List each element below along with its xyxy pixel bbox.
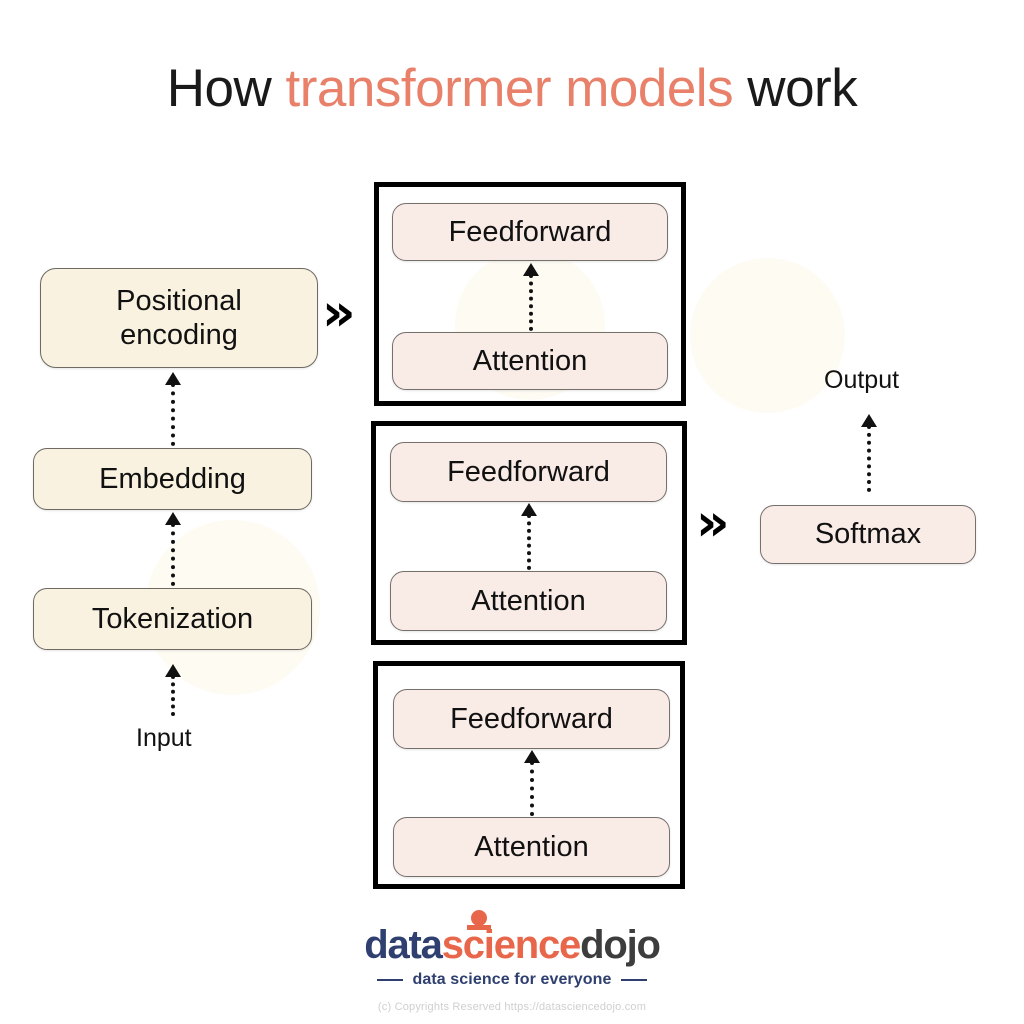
logo-wordmark: datasciencedojo — [364, 925, 659, 965]
node-embedding-label: Embedding — [99, 462, 246, 496]
block-2-attention[interactable]: Attention — [390, 571, 667, 631]
arrow-head-icon — [165, 372, 181, 385]
block-3-attention[interactable]: Attention — [393, 817, 670, 877]
tagline-text: data science for everyone — [412, 971, 611, 989]
block-2-feedforward[interactable]: Feedforward — [390, 442, 667, 502]
logo-person-head-icon — [471, 910, 487, 926]
block-3-attention-label: Attention — [474, 830, 588, 864]
title-highlight: transformer models — [286, 59, 734, 118]
logo-tagline: data science for everyone — [0, 971, 1024, 989]
input-label: Input — [136, 724, 192, 753]
block-1-feedforward-label: Feedforward — [449, 215, 612, 249]
node-tokenization[interactable]: Tokenization — [33, 588, 312, 650]
output-label: Output — [824, 366, 899, 395]
diagram-canvas: How transformer models work Positional e… — [0, 0, 1024, 1024]
block-2-feedforward-label: Feedforward — [447, 455, 610, 489]
arrow-shaft — [171, 383, 175, 446]
background-circle-watermark — [690, 258, 845, 413]
arrow-softmax-to-output — [859, 414, 879, 492]
node-softmax[interactable]: Softmax — [760, 505, 976, 564]
arrow-head-icon — [165, 512, 181, 525]
page-title: How transformer models work — [0, 58, 1024, 119]
block-1-attention[interactable]: Attention — [392, 332, 668, 390]
tagline-rule-left — [377, 979, 403, 982]
logo-part-dojo: dojo — [580, 923, 660, 967]
block-1-attention-label: Attention — [473, 344, 587, 378]
arrow-tokenization-to-embedding — [163, 512, 183, 586]
copyright-text: (c) Copyrights Reserved https://datascie… — [0, 1001, 1024, 1013]
arrow-embedding-to-positional — [163, 372, 183, 446]
arrow-head-icon — [165, 664, 181, 677]
datasciencedojo-logo[interactable]: datasciencedojo — [364, 925, 659, 965]
block-3-feedforward-label: Feedforward — [450, 702, 613, 736]
node-positional-encoding-label: Positional encoding — [116, 284, 242, 352]
block-2-attention-label: Attention — [471, 584, 585, 618]
logo-part-data: data — [364, 923, 441, 967]
block-3-feedforward[interactable]: Feedforward — [393, 689, 670, 749]
softmax-entry-chevron-icon: » — [696, 497, 730, 549]
footer: datasciencedojo data science for everyon… — [0, 925, 1024, 1013]
arrow-input-to-tokenization — [163, 664, 183, 716]
title-suffix: work — [733, 59, 857, 118]
node-positional-encoding[interactable]: Positional encoding — [40, 268, 318, 368]
logo-person-body-icon — [467, 925, 491, 930]
logo-part-ence: ence — [494, 923, 580, 967]
arrow-head-icon — [861, 414, 877, 427]
arrow-shaft — [171, 675, 175, 716]
block-1-feedforward[interactable]: Feedforward — [392, 203, 668, 261]
node-embedding[interactable]: Embedding — [33, 448, 312, 510]
node-softmax-label: Softmax — [815, 517, 921, 551]
title-prefix: How — [167, 59, 286, 118]
arrow-shaft — [867, 425, 871, 492]
encoder-entry-chevron-icon: » — [322, 287, 356, 339]
node-tokenization-label: Tokenization — [92, 602, 253, 636]
logo-person-icon — [467, 910, 491, 936]
arrow-shaft — [171, 523, 175, 586]
tagline-rule-right — [621, 979, 647, 982]
